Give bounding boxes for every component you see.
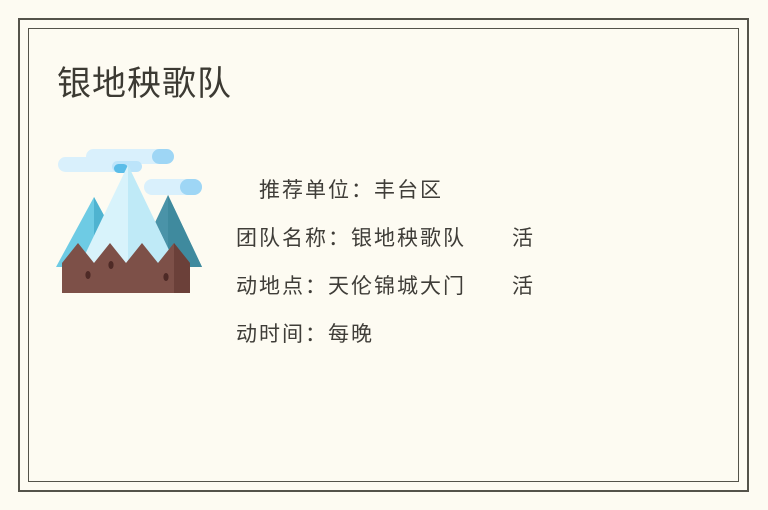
page-title: 银地秧歌队	[57, 62, 232, 106]
page-root: 银地秧歌队	[0, 0, 768, 510]
mountain-landscape-icon	[56, 147, 208, 293]
detail-line: 动地点：天伦锦城大门 活	[236, 262, 636, 310]
detail-line: 推荐单位：丰台区	[236, 166, 636, 214]
team-details-block: 推荐单位：丰台区 团队名称：银地秧歌队 活 动地点：天伦锦城大门 活 动时间：每…	[236, 166, 636, 358]
detail-line: 团队名称：银地秧歌队 活	[236, 214, 636, 262]
mountain-landscape-image	[56, 147, 208, 293]
detail-line: 动时间：每晚	[236, 310, 636, 358]
page-content: 银地秧歌队	[0, 0, 768, 510]
